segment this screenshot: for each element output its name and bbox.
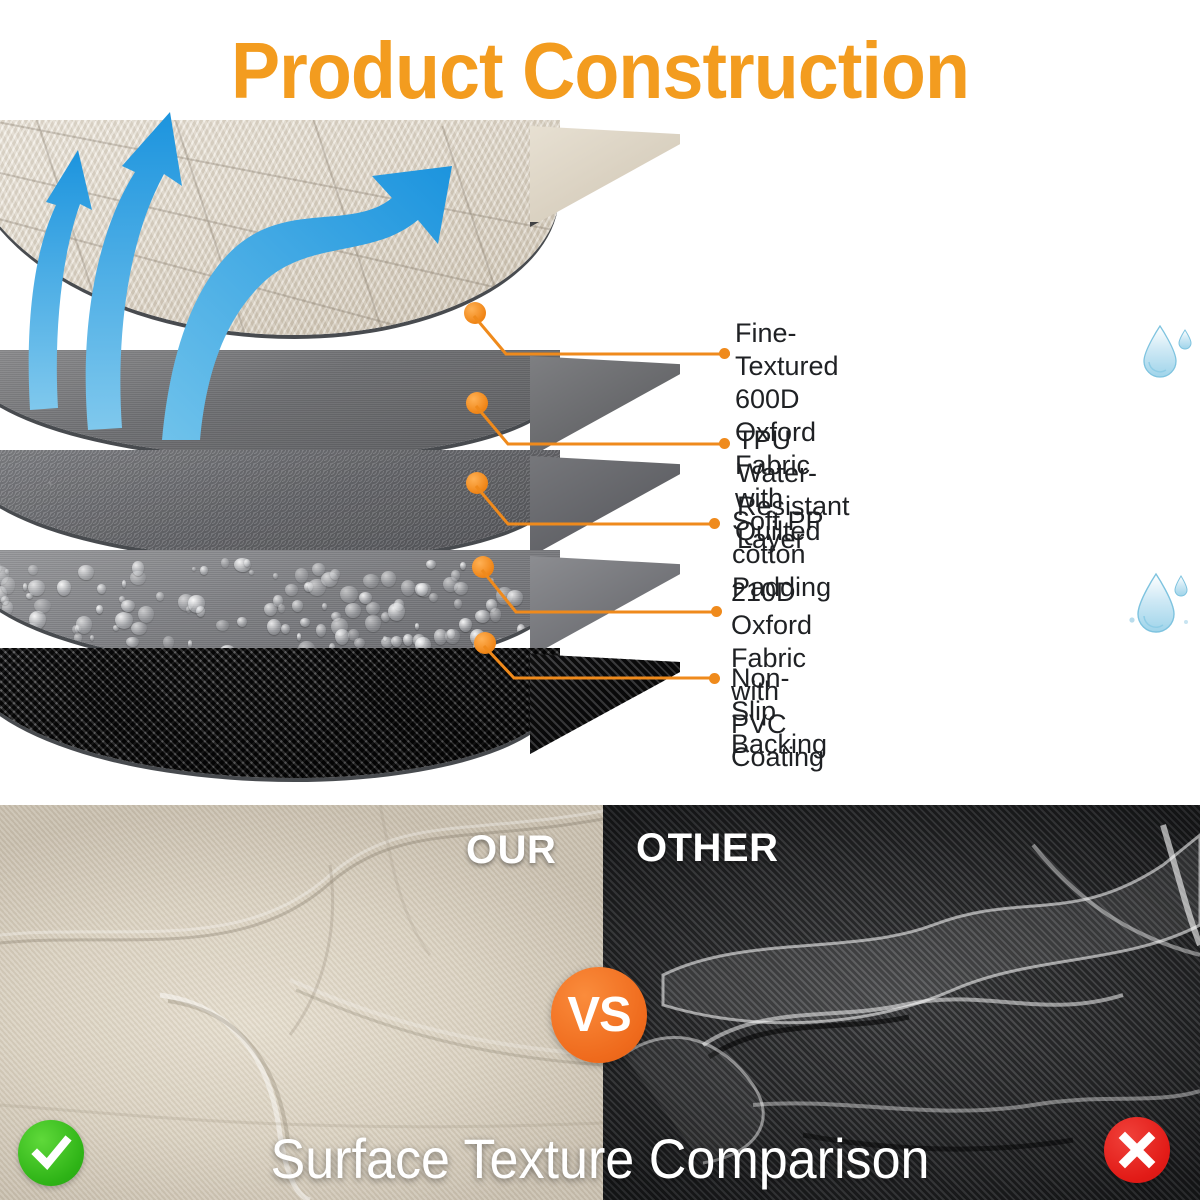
callout-label-5: Non-Slip Backing — [731, 662, 827, 761]
callout-connector-line — [476, 564, 732, 624]
construction-panel: Product Construction — [0, 0, 1200, 805]
page-title: Product Construction — [48, 28, 1152, 114]
callout-label-dot — [709, 518, 720, 529]
layer-stack-illustration — [0, 120, 620, 800]
callout-connector-line — [470, 400, 740, 456]
product-construction-infographic: Product Construction — [0, 0, 1200, 1200]
callout-label-dot — [719, 348, 730, 359]
other-label: OTHER — [636, 826, 779, 871]
callout-label-dot — [719, 438, 730, 449]
surface-texture-comparison: OUR OTHER VS Surface Texture Comparison — [0, 805, 1200, 1200]
callout-label-dot — [711, 606, 722, 617]
callout-connector-line — [470, 480, 730, 536]
water-drop-icon — [1126, 566, 1192, 644]
water-drop-icon — [1140, 318, 1196, 384]
our-label: OUR — [466, 828, 556, 873]
callout-label-dot — [709, 673, 720, 684]
vs-badge: VS — [551, 967, 647, 1063]
callout-connector-line — [468, 310, 738, 366]
comparison-caption: Surface Texture Comparison — [42, 1128, 1158, 1190]
callout-connector-line — [478, 640, 728, 690]
